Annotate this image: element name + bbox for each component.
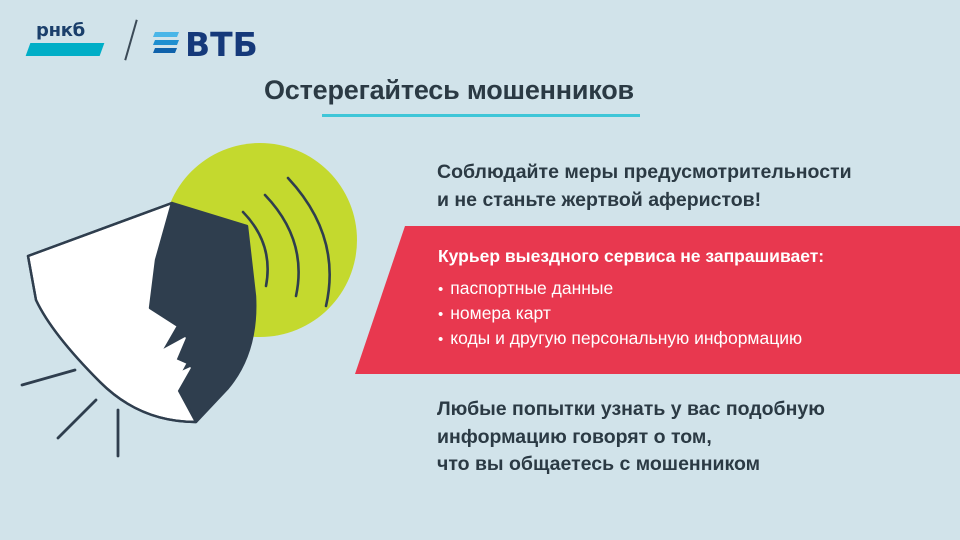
- vtb-stripe-1: [153, 32, 179, 37]
- vtb-logo[interactable]: ВТБ: [154, 20, 258, 60]
- page-title: Остерегайтесь мошенников: [264, 75, 634, 106]
- rnkb-logo[interactable]: рнкб: [28, 20, 106, 60]
- rnkb-parallelogram-icon: [26, 43, 105, 56]
- list-item-label: номера карт: [450, 301, 551, 326]
- list-item: • коды и другую персональную информацию: [438, 326, 958, 351]
- vtb-stripe-3: [153, 48, 177, 53]
- outro-paragraph: Любые попытки узнать у вас подобную инфо…: [437, 396, 825, 479]
- bullet-dot-icon: •: [438, 282, 443, 297]
- bullet-dot-icon: •: [438, 332, 443, 347]
- vtb-stripes-icon: [154, 30, 180, 56]
- intro-paragraph: Соблюдайте меры предусмотрительности и н…: [437, 159, 852, 214]
- bullet-dot-icon: •: [438, 307, 443, 322]
- slide-root: рнкб ВТБ Остерегайтесь мошенников: [0, 0, 960, 540]
- brand-logo-bar: рнкб ВТБ: [28, 18, 258, 62]
- list-item: • паспортные данные: [438, 276, 958, 301]
- warning-banner-heading: Курьер выездного сервиса не запрашивает:: [438, 246, 958, 267]
- warning-banner: Курьер выездного сервиса не запрашивает:…: [340, 226, 960, 376]
- list-item-label: паспортные данные: [450, 276, 613, 301]
- warning-banner-content: Курьер выездного сервиса не запрашивает:…: [438, 246, 958, 352]
- rnkb-wordmark: рнкб: [36, 22, 85, 40]
- title-underline: [322, 114, 640, 117]
- list-item: • номера карт: [438, 301, 958, 326]
- vtb-wordmark: ВТБ: [185, 30, 258, 60]
- list-item-label: коды и другую персональную информацию: [450, 326, 802, 351]
- vtb-stripe-2: [153, 40, 179, 45]
- logo-divider: [124, 20, 137, 61]
